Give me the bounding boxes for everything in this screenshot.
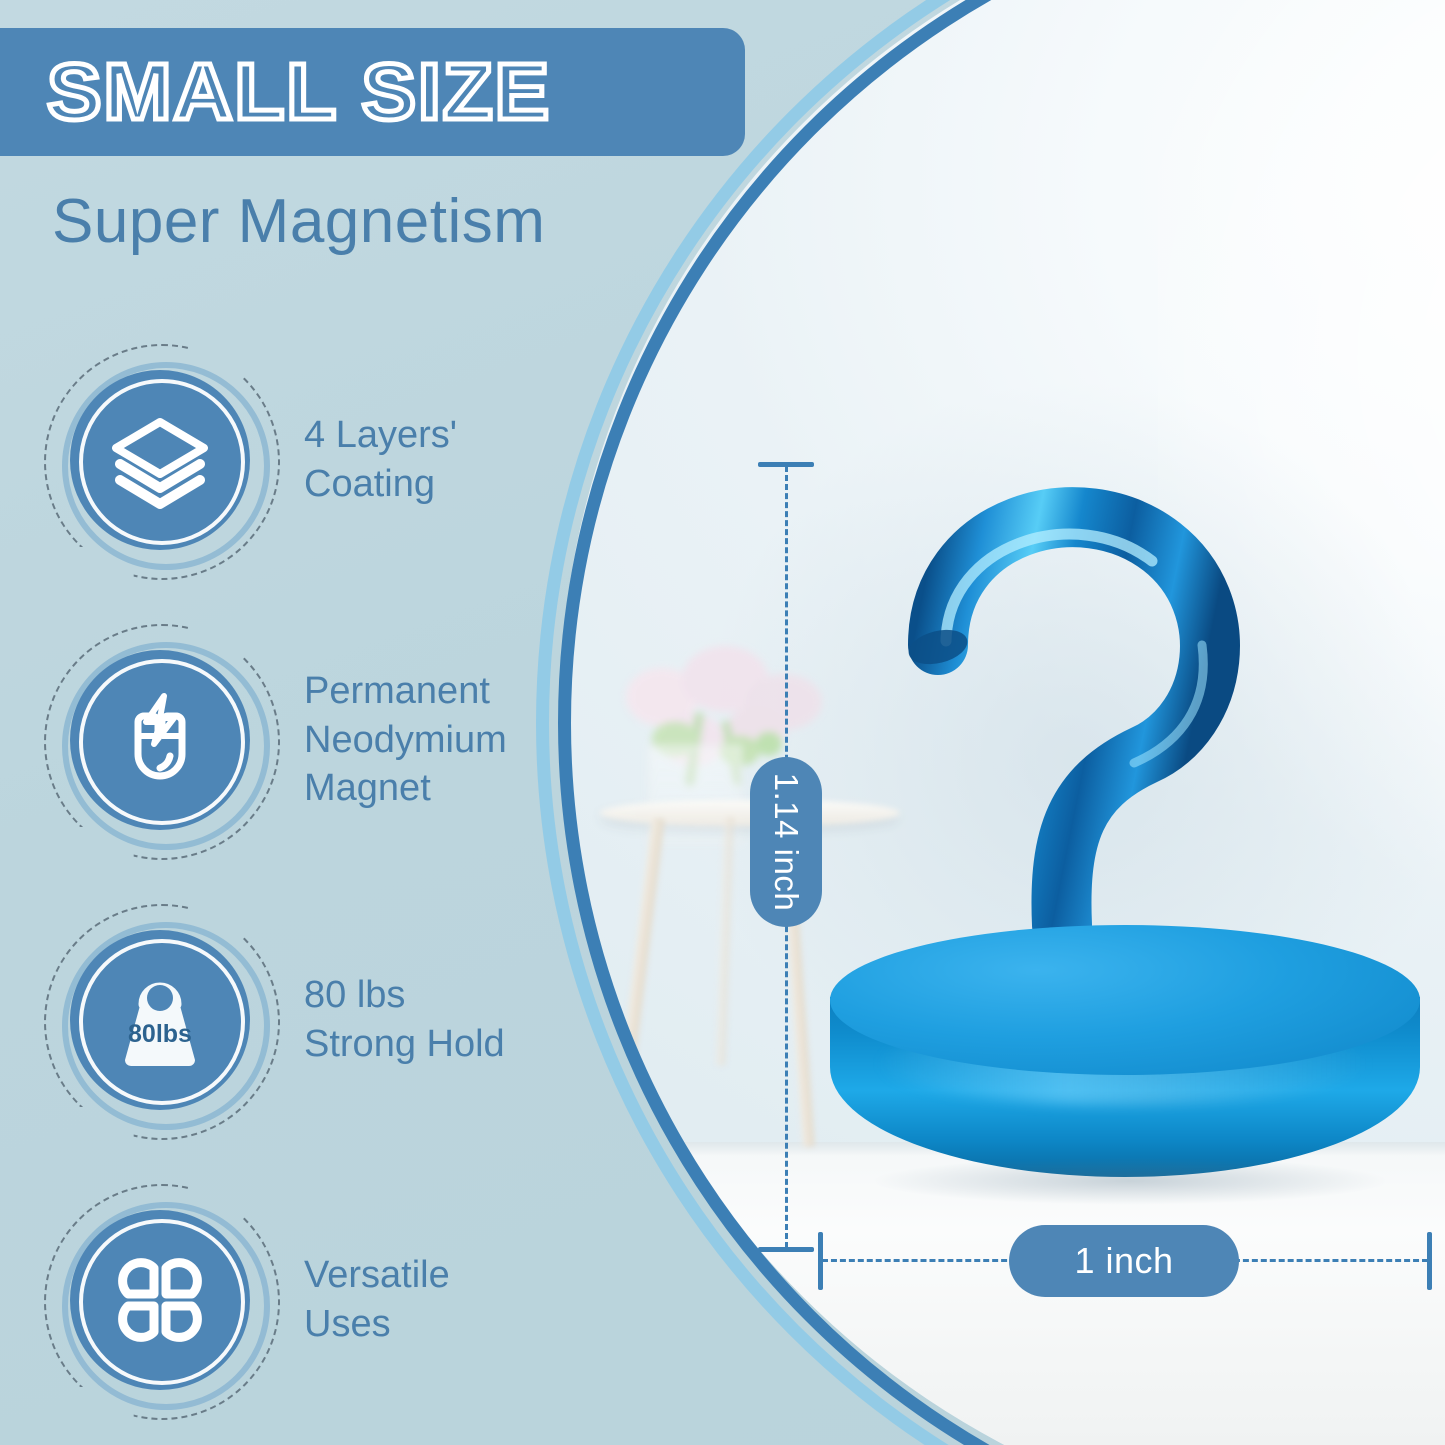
badge-disc	[70, 1210, 250, 1390]
feature-label-line: Strong Hold	[304, 1020, 505, 1069]
feature-list: 4 Layers' Coating	[0, 320, 560, 1440]
feature-label-line: 4 Layers'	[304, 411, 457, 460]
height-dimension: 1.14 inch	[758, 462, 814, 1252]
banner-title: SMALL SIZE	[47, 52, 551, 132]
badge-disc	[70, 650, 250, 830]
feature-label-line: 80 lbs	[304, 971, 505, 1020]
badge-disc	[70, 370, 250, 550]
feature-label-line: Permanent	[304, 667, 507, 716]
dimension-cap-bottom	[758, 1247, 814, 1252]
width-dimension: 1 inch	[818, 1232, 1432, 1290]
feature-item-versatile: Versatile Uses	[0, 1160, 560, 1440]
height-label: 1.14 inch	[767, 773, 805, 911]
feature-label-line: Uses	[304, 1300, 450, 1349]
magnet-disc-base	[830, 925, 1420, 1215]
product-infographic: SMALL SIZE Super Magnetism 4 Layers' Co	[0, 0, 1445, 1445]
feature-item-weight: 80lbs 80 lbs Strong Hold	[0, 880, 560, 1160]
feature-label-line: Coating	[304, 460, 457, 509]
four-petal-icon	[108, 1248, 212, 1352]
layers-icon	[108, 408, 212, 512]
magnet-icon	[108, 688, 212, 792]
weight-icon-label: 80lbs	[128, 1020, 192, 1048]
feature-label: 80 lbs Strong Hold	[304, 971, 505, 1068]
magnetic-hook-product	[820, 455, 1420, 1255]
feature-badge	[58, 358, 262, 562]
feature-item-magnet: Permanent Neodymium Magnet	[0, 600, 560, 880]
weight-icon: 80lbs	[105, 968, 215, 1072]
small-size-banner: SMALL SIZE	[0, 28, 745, 156]
feature-label-line: Magnet	[304, 764, 507, 813]
feature-label-line: Neodymium	[304, 716, 507, 765]
subtitle: Super Magnetism	[52, 186, 545, 257]
dimension-cap-right	[1427, 1232, 1432, 1290]
feature-badge	[58, 1198, 262, 1402]
feature-badge	[58, 638, 262, 842]
badge-disc: 80lbs	[70, 930, 250, 1110]
feature-badge: 80lbs	[58, 918, 262, 1122]
feature-label: Permanent Neodymium Magnet	[304, 667, 507, 813]
feature-item-layers: 4 Layers' Coating	[0, 320, 560, 600]
feature-label: 4 Layers' Coating	[304, 411, 457, 508]
feature-label: Versatile Uses	[304, 1251, 450, 1348]
hook-shape	[880, 455, 1300, 975]
height-label-pill: 1.14 inch	[750, 757, 822, 927]
width-label-pill: 1 inch	[1009, 1225, 1239, 1297]
feature-label-line: Versatile	[304, 1251, 450, 1300]
